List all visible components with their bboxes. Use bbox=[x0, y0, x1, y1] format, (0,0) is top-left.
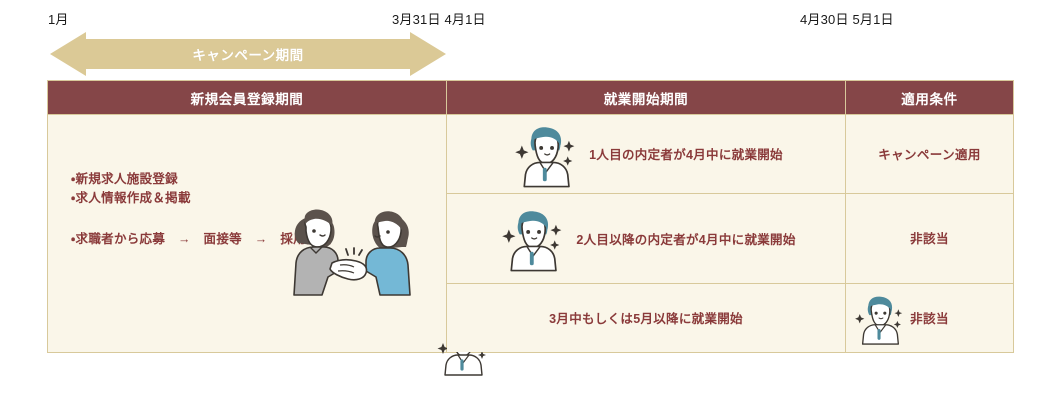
timeline-label-march31-april1: 3月31日 4月1日 bbox=[392, 9, 486, 28]
employment-start-cell-row1: 1人目の内定者が4月中に就業開始 bbox=[447, 115, 846, 194]
person-sparkle-illustration bbox=[496, 203, 570, 273]
table-row: ・新規求人施設登録 ・求人情報作成＆掲載 ・求職者から応募 → 面接等 → 採用… bbox=[48, 115, 1014, 194]
header-application-condition: 適用条件 bbox=[846, 81, 1014, 115]
condition-cell-row3: 非該当 bbox=[846, 283, 1014, 352]
employment-start-text-row2: 2人目以降の内定者が4月中に就業開始 bbox=[576, 229, 795, 248]
condition-text-row2: 非該当 bbox=[910, 232, 949, 246]
header-registration-period: 新規会員登録期間 bbox=[48, 81, 447, 115]
header-employment-start-period: 就業開始期間 bbox=[447, 81, 846, 115]
condition-cell-row1: キャンペーン適用 bbox=[846, 115, 1014, 194]
condition-text-row1: キャンペーン適用 bbox=[878, 148, 981, 162]
campaign-period-arrow: キャンペーン期間 bbox=[50, 30, 446, 78]
timeline-label-april30-may1: 4月30日 5月1日 bbox=[800, 9, 894, 28]
employment-start-text-row3: 3月中もしくは5月以降に就業開始 bbox=[549, 308, 743, 327]
bullet-job-posting-creation: ・求人情報作成＆掲載 bbox=[71, 187, 191, 206]
handshake-illustration bbox=[270, 191, 430, 301]
condition-cell-row2: 非該当 bbox=[846, 193, 1014, 283]
employment-start-cell-row3: 3月中もしくは5月以降に就業開始 bbox=[447, 283, 846, 352]
employment-start-cell-row2: 2人目以降の内定者が4月中に就業開始 bbox=[447, 193, 846, 283]
timeline-label-january: 1月 bbox=[48, 9, 69, 28]
registration-period-cell: ・新規求人施設登録 ・求人情報作成＆掲載 ・求職者から応募 → 面接等 → 採用… bbox=[48, 115, 447, 353]
table-header-row: 新規会員登録期間 就業開始期間 適用条件 bbox=[48, 81, 1014, 115]
campaign-period-label: キャンペーン期間 bbox=[50, 30, 446, 78]
person-sparkle-illustration bbox=[852, 290, 908, 346]
person-sparkle-illustration bbox=[509, 119, 583, 189]
condition-text-row3: 非該当 bbox=[910, 312, 949, 326]
campaign-conditions-table: 新規会員登録期間 就業開始期間 適用条件 ・新規求人施設登録 ・求人情報作成＆掲… bbox=[47, 80, 1014, 353]
employment-start-text-row1: 1人目の内定者が4月中に就業開始 bbox=[589, 144, 783, 163]
bullet-new-facility-registration: ・新規求人施設登録 bbox=[71, 168, 178, 187]
